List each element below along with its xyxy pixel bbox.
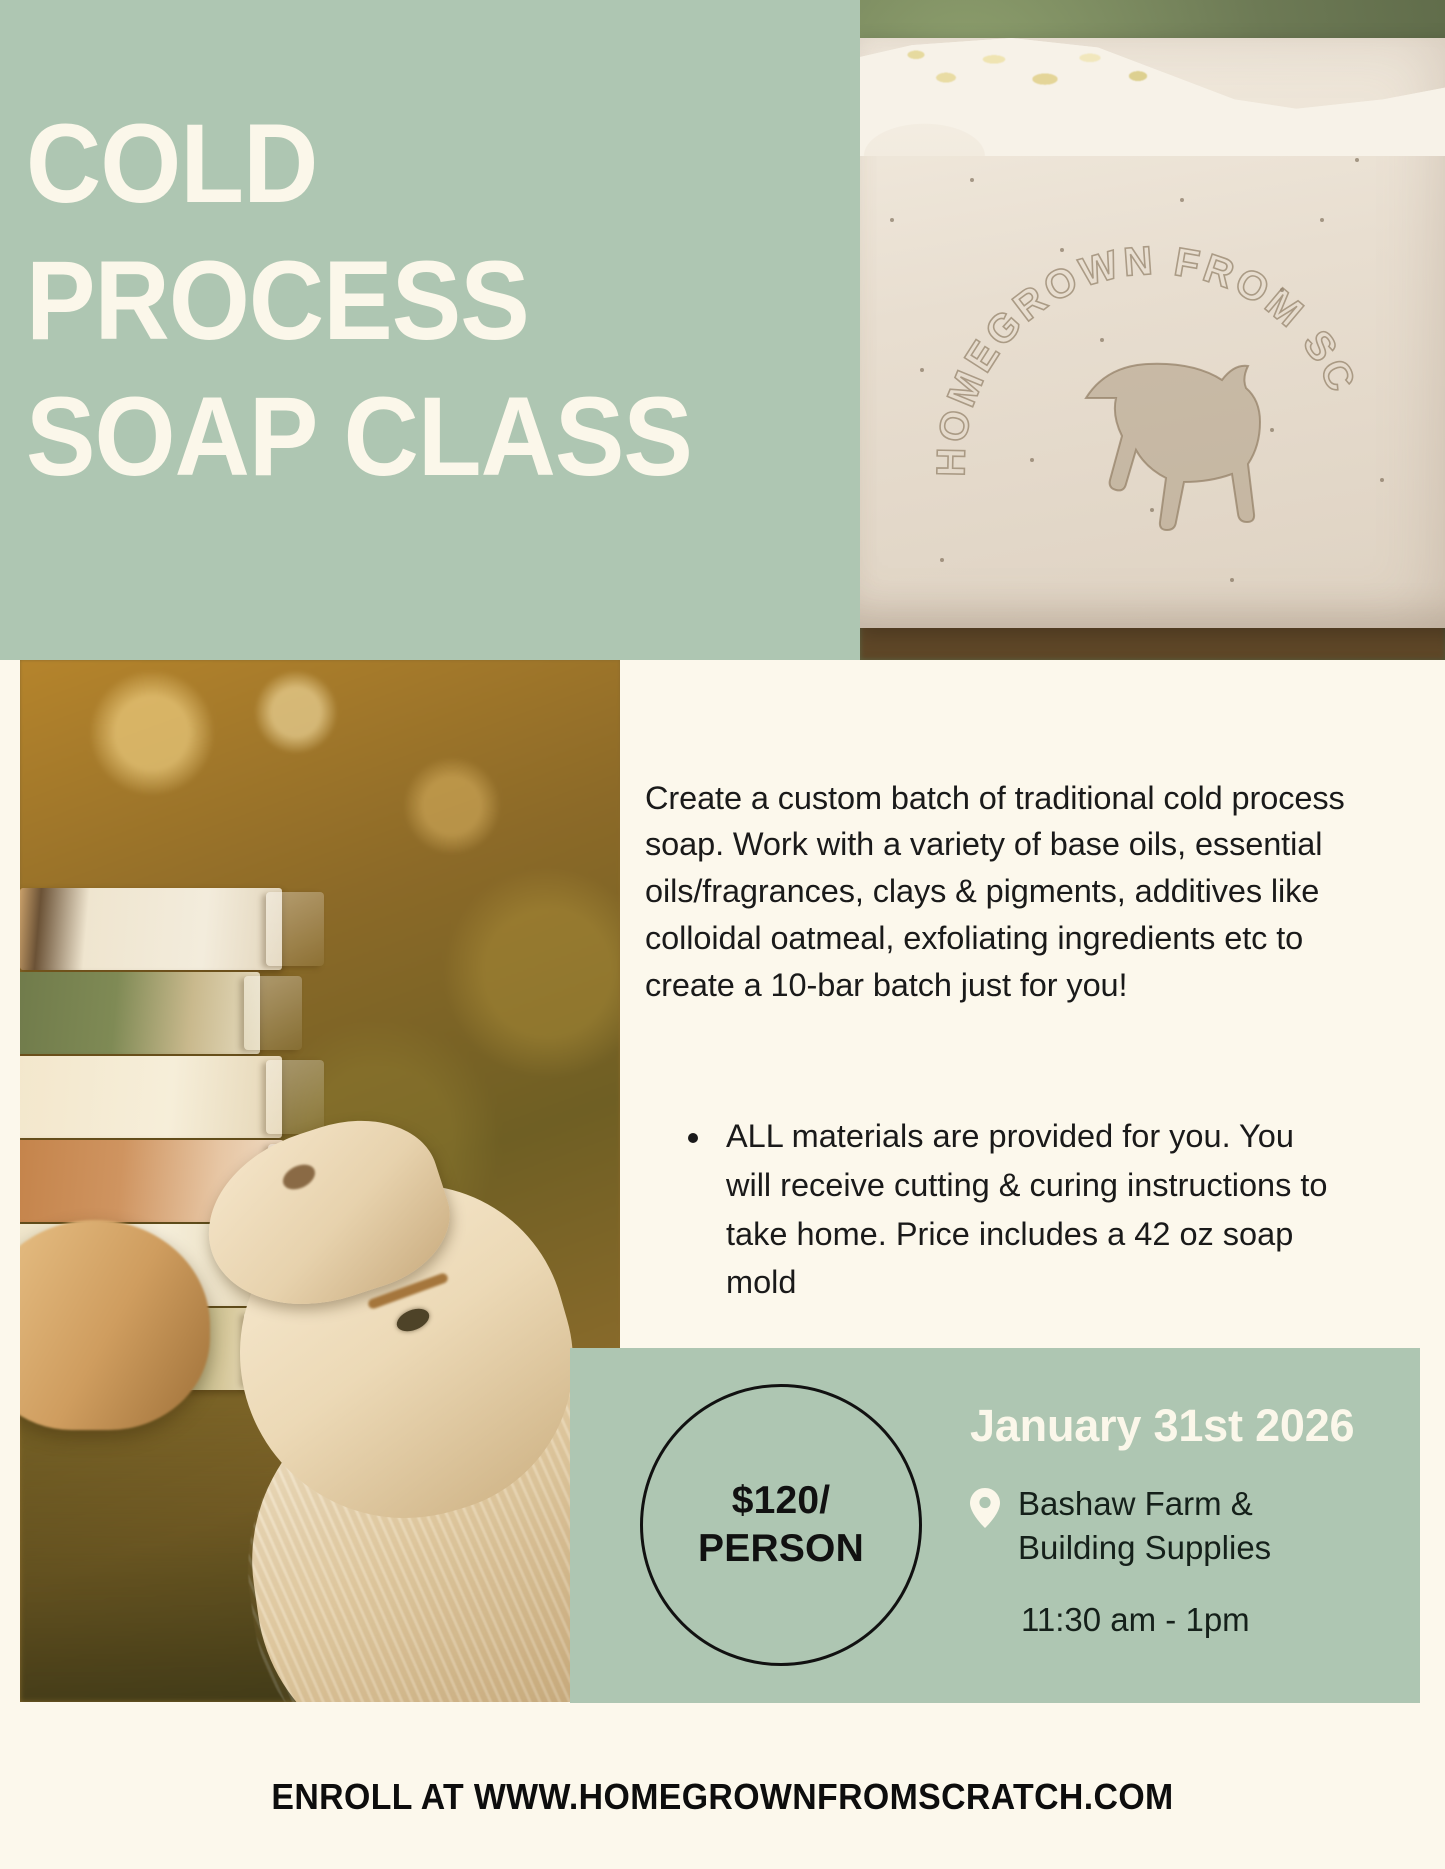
event-location-line-1: Bashaw Farm & <box>1018 1485 1253 1522</box>
price-badge-text: $120/ PERSON <box>698 1477 864 1574</box>
page-title: COLD PROCESS SOAP CLASS <box>26 96 770 506</box>
enroll-footer[interactable]: ENROLL AT WWW.HOMEGROWNFROMSCRATCH.COM <box>43 1776 1401 1818</box>
title-line-1: COLD <box>26 96 770 233</box>
event-date: January 31st 2026 <box>970 1400 1400 1452</box>
soap-emboss-logo: HOMEGROWN FROM SCRATCH <box>936 188 1356 568</box>
map-pin-icon <box>970 1488 1000 1528</box>
soap-bar-stack-item <box>20 1056 282 1138</box>
title-line-3: SOAP CLASS <box>26 369 770 506</box>
goat-figure <box>170 1130 620 1702</box>
price-unit: PERSON <box>698 1527 864 1570</box>
event-info-panel: $120/ PERSON January 31st 2026 Bashaw Fa… <box>570 1348 1420 1703</box>
goat-silhouette-icon <box>1086 364 1260 530</box>
poster-canvas: COLD PROCESS SOAP CLASS <box>0 0 1445 1869</box>
goat-soap-stack-photo <box>20 660 620 1702</box>
soap-bar-stack-item <box>20 972 260 1054</box>
event-location: Bashaw Farm & Building Supplies <box>970 1482 1400 1569</box>
materials-bullet-list: ALL materials are provided for you. You … <box>660 1112 1340 1307</box>
event-details: January 31st 2026 Bashaw Farm & Building… <box>970 1400 1400 1639</box>
description-paragraph: Create a custom batch of traditional col… <box>645 775 1355 1009</box>
soap-bar-object: HOMEGROWN FROM SCRATCH <box>860 38 1445 628</box>
event-location-text: Bashaw Farm & Building Supplies <box>1018 1482 1271 1569</box>
header-green-panel: COLD PROCESS SOAP CLASS <box>0 0 860 660</box>
price-amount: $120/ <box>732 1479 831 1522</box>
event-time: 11:30 am - 1pm <box>1021 1601 1400 1639</box>
event-location-line-2: Building Supplies <box>1018 1529 1271 1566</box>
soap-bar-photo: HOMEGROWN FROM SCRATCH <box>860 0 1445 660</box>
soap-bar-stack-item <box>20 888 282 970</box>
title-line-2: PROCESS <box>26 233 770 370</box>
list-item: ALL materials are provided for you. You … <box>714 1112 1340 1307</box>
price-badge: $120/ PERSON <box>640 1384 922 1666</box>
